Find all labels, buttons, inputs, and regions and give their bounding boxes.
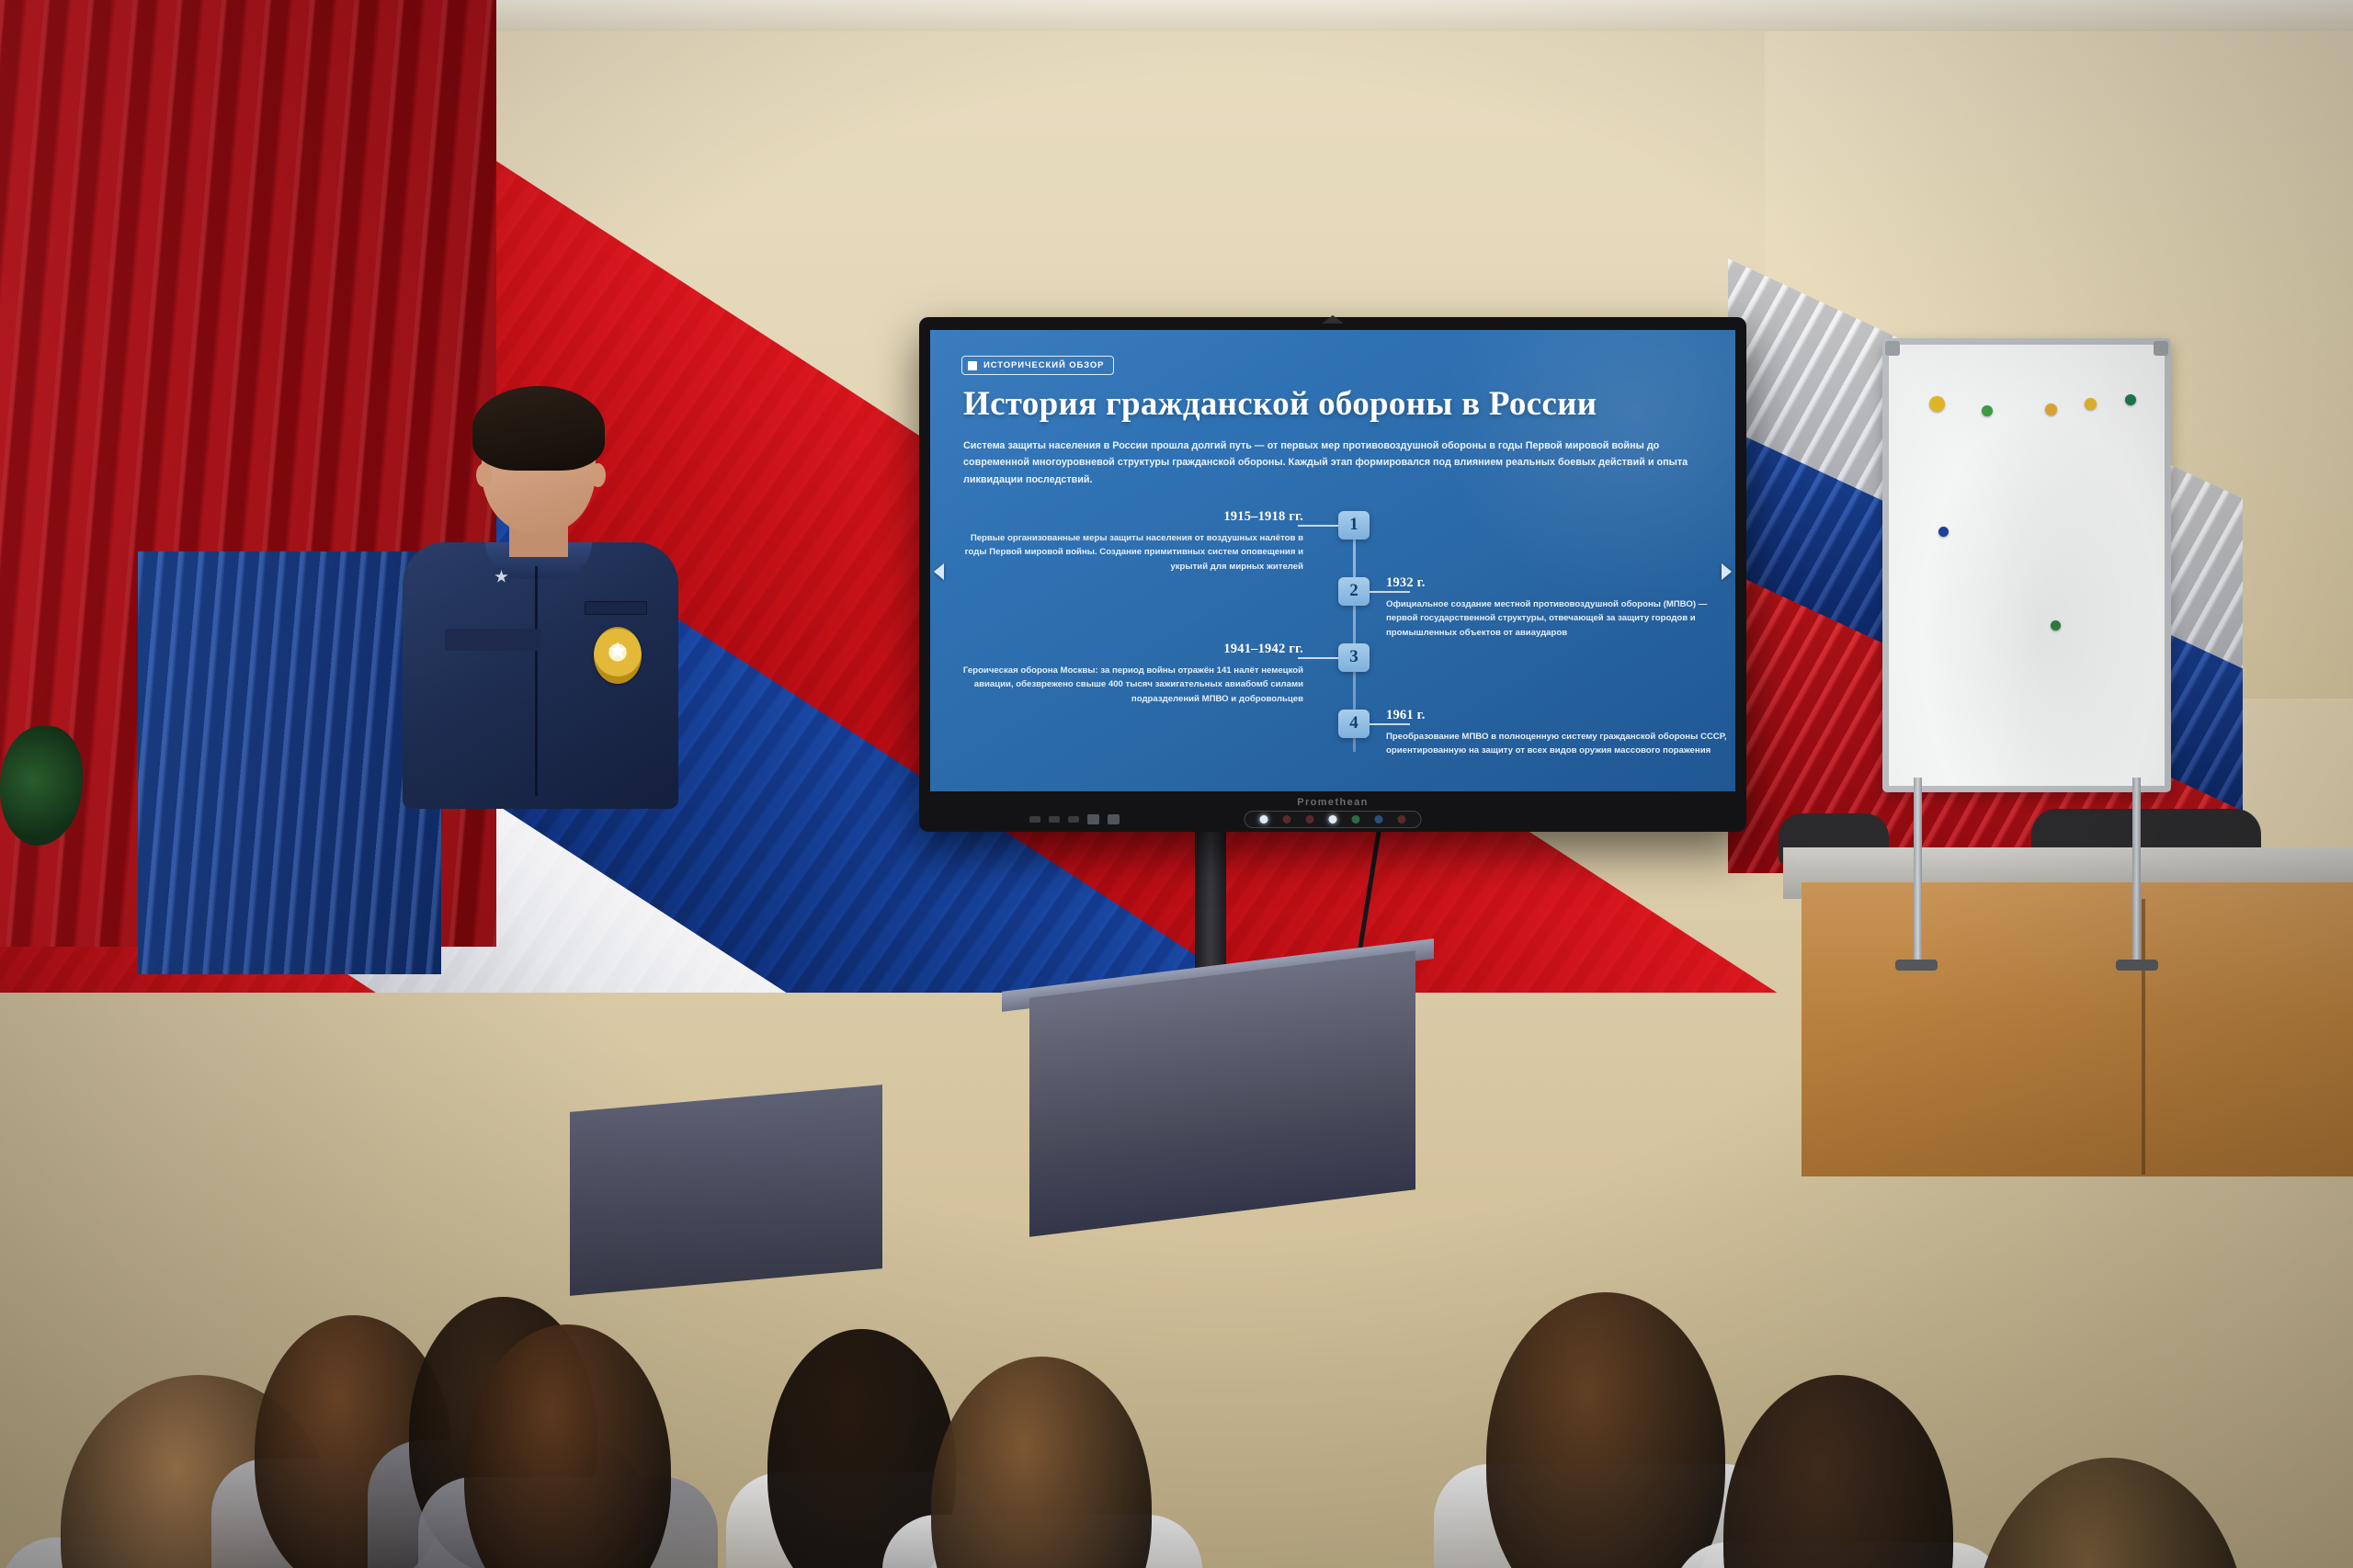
panel-screen[interactable]: ИСТОРИЧЕСКИЙ ОБЗОР История гражданской о… [930, 330, 1735, 791]
timeline-node-2[interactable]: 2 [1338, 577, 1370, 606]
classroom-scene: ИСТОРИЧЕСКИЙ ОБЗОР История гражданской о… [0, 0, 2353, 1568]
interactive-flat-panel[interactable]: ИСТОРИЧЕСКИЙ ОБЗОР История гражданской о… [919, 317, 1746, 832]
timeline-node-4[interactable]: 4 [1338, 710, 1370, 738]
whiteboard-corner-tr [2154, 341, 2168, 356]
whiteboard-magnet-2[interactable] [1982, 405, 1993, 416]
student-head [1723, 1375, 1953, 1568]
panel-camera-notch [1322, 315, 1344, 324]
whiteboard-magnet-7[interactable] [2051, 620, 2061, 631]
speaker-hair [472, 386, 605, 471]
student-head [1486, 1292, 1725, 1568]
whiteboard-magnet-3[interactable] [2045, 403, 2057, 415]
whiteboard-corner-tl [1885, 341, 1900, 356]
presentation-slide[interactable]: ИСТОРИЧЕСКИЙ ОБЗОР История гражданской о… [930, 330, 1735, 791]
timeline-text-2: Официальное создание местной противовозд… [1386, 597, 1728, 642]
timeline-connector-1 [1298, 525, 1338, 527]
slide-next-chevron-icon[interactable] [1722, 563, 1732, 580]
slide-prev-chevron-icon[interactable] [934, 563, 944, 580]
timeline: 11915–1918 гг.Первые организованные меры… [961, 506, 1704, 772]
slide-intro-paragraph: Система защиты населения в России прошла… [963, 437, 1689, 489]
timeline-node-1[interactable]: 1 [1338, 511, 1370, 540]
uniformed-speaker [395, 395, 708, 790]
whiteboard-frame [1882, 338, 2171, 792]
student-head [931, 1357, 1152, 1568]
whiteboard-magnet-4[interactable] [2085, 398, 2097, 410]
timeline-year-4: 1961 г. [1386, 708, 1728, 723]
slide-title: История гражданской обороны в России [963, 387, 1704, 423]
speaker-shoulder-name-patch [585, 601, 647, 615]
whiteboard-magnet-6[interactable] [1938, 527, 1949, 537]
panel-brand-logo: Promethean [1297, 797, 1369, 808]
timeline-entry-3: 1941–1942 гг.Героическая оборона Москвы:… [961, 642, 1303, 708]
timeline-year-1: 1915–1918 гг. [961, 509, 1303, 525]
timeline-text-1: Первые организованные меры защиты населе… [961, 531, 1303, 575]
timeline-text-3: Героическая оборона Москвы: за период во… [961, 664, 1303, 708]
badge-label: ИСТОРИЧЕСКИЙ ОБЗОР [983, 360, 1104, 370]
speaker-jacket-zipper [535, 566, 538, 796]
timeline-entry-1: 1915–1918 гг.Первые организованные меры … [961, 509, 1303, 575]
timeline-entry-4: 1961 г.Преобразование МПВО в полноценную… [1386, 708, 1728, 759]
badge-square-icon [968, 361, 977, 370]
timeline-entry-2: 1932 г.Официальное создание местной прот… [1386, 575, 1728, 642]
speaker-service-emblem [594, 627, 642, 684]
timeline-year-2: 1932 г. [1386, 575, 1728, 591]
whiteboard-magnet-5[interactable] [2125, 394, 2136, 405]
timeline-year-3: 1941–1942 гг. [961, 642, 1303, 657]
speaker-ear-left [476, 463, 492, 487]
timeline-node-3[interactable]: 3 [1338, 643, 1370, 672]
speaker-chest-patch [445, 629, 540, 651]
slide-section-badge: ИСТОРИЧЕСКИЙ ОБЗОР [961, 356, 1114, 375]
whiteboard-magnet-1[interactable] [1929, 396, 1945, 412]
speaker-uniform-jacket [403, 542, 678, 809]
seated-students [0, 814, 2353, 1568]
whiteboard-surface[interactable] [1889, 345, 2165, 786]
student-head [1972, 1458, 2248, 1568]
timeline-connector-3 [1298, 657, 1338, 659]
timeline-text-4: Преобразование МПВО в полноценную систем… [1386, 730, 1728, 759]
speaker-ear-right [590, 463, 606, 487]
